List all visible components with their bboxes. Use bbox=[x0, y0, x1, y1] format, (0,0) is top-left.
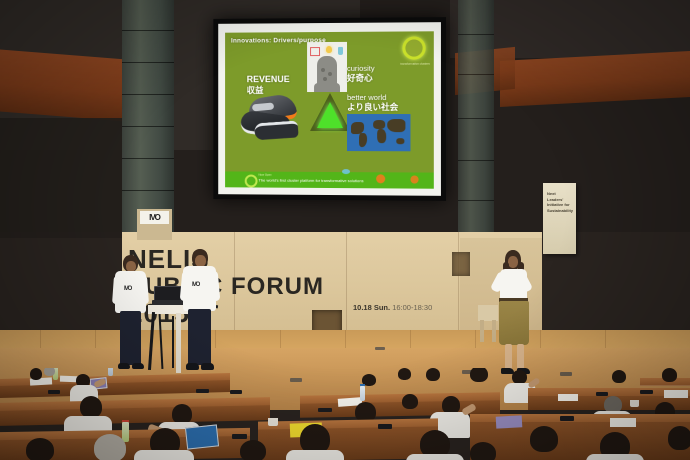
footer-small-text: Now Open bbox=[259, 173, 272, 177]
slide-footer-band: Now Open The world's first cluster platf… bbox=[225, 171, 434, 188]
audience-head-far-2 bbox=[44, 368, 55, 376]
transformative-clusters-ring-icon bbox=[402, 36, 425, 59]
revenue-jp: 収益 bbox=[247, 85, 290, 96]
audience-head-far-1 bbox=[30, 368, 42, 380]
column-right bbox=[458, 0, 494, 238]
audience-head-near-9 bbox=[240, 440, 266, 460]
audience-head-far-6 bbox=[512, 370, 527, 384]
better-world-jp: より良い社会 bbox=[347, 102, 398, 112]
audience-head-near-3 bbox=[94, 434, 126, 460]
shoe-lower bbox=[254, 120, 299, 140]
audience-head-far-8 bbox=[398, 368, 411, 380]
floor-marker-1 bbox=[375, 347, 385, 350]
green-triangle-graphic bbox=[310, 93, 350, 131]
lightbulb-icon bbox=[326, 46, 332, 53]
podium-placard: IVO bbox=[137, 209, 172, 240]
event-date: 10.18 Sun. bbox=[353, 303, 390, 312]
flask-icon bbox=[338, 47, 343, 55]
presenter-center-legs bbox=[188, 309, 211, 365]
audience-mic-7 bbox=[232, 434, 247, 439]
audience-laptop-screen bbox=[185, 424, 219, 449]
audience-mic-8 bbox=[378, 424, 392, 429]
world-map-image bbox=[347, 114, 410, 151]
audience-mic-3 bbox=[230, 390, 242, 394]
revenue-en: REVENUE bbox=[247, 74, 290, 85]
audience-mic-1 bbox=[48, 390, 60, 394]
speaker-right-leg-r bbox=[517, 344, 524, 370]
nelis-definition-placard: Next Leaders' Initiative for Sustainabil… bbox=[543, 183, 576, 254]
placard-text: Next Leaders' Initiative for Sustainabil… bbox=[547, 191, 573, 213]
audience-bottle-3 bbox=[360, 386, 365, 401]
presenter-left-legs bbox=[120, 311, 141, 365]
footer-tagline: The world's first cluster platform for t… bbox=[259, 178, 364, 184]
event-time: 16:00-18:30 bbox=[392, 303, 432, 312]
stage-chair bbox=[478, 305, 498, 321]
audience-cup-2 bbox=[268, 418, 278, 426]
speaker-right-face bbox=[508, 256, 518, 268]
audience-head-far-10 bbox=[662, 368, 677, 382]
cable-3 bbox=[172, 316, 174, 368]
audience-head-far-9 bbox=[612, 370, 626, 383]
audience-mic-9 bbox=[560, 416, 574, 421]
red-square-icon bbox=[310, 47, 320, 56]
placard-line4: Sustainability bbox=[547, 208, 573, 214]
slide-logo: transformative clusters bbox=[400, 36, 426, 65]
presentation-slide: Innovations: Drivers/purpose transformat… bbox=[225, 31, 434, 188]
audience-head-near-8 bbox=[668, 426, 690, 450]
presenter-center-shirt-logo: IVO bbox=[192, 282, 199, 288]
projection-screen: Innovations: Drivers/purpose transformat… bbox=[213, 17, 446, 201]
audience-paper-4 bbox=[664, 390, 688, 398]
ideas-head-image bbox=[307, 42, 347, 92]
audience-head-near-4 bbox=[26, 438, 54, 460]
presenter-left-shirt-logo: IVO bbox=[124, 286, 131, 292]
backdrop-niche-upper bbox=[452, 252, 470, 276]
placard-line3: Initiative for bbox=[547, 202, 573, 208]
footer-ring-icon bbox=[245, 175, 258, 188]
speaker-right-skirt bbox=[499, 301, 529, 345]
audience-body-near-5 bbox=[406, 454, 464, 460]
event-sign-date: 10.18 Sun. 16:00-18:30 bbox=[353, 303, 432, 312]
audience-head-near-6 bbox=[530, 426, 558, 452]
stage-chair-leg-l bbox=[480, 320, 484, 342]
audience-cup-1 bbox=[630, 400, 639, 407]
audience-purple-notebook bbox=[496, 415, 523, 428]
audience-head-mid-1 bbox=[80, 396, 102, 418]
audience-body-near-7 bbox=[586, 454, 644, 460]
audience-head-near-10 bbox=[470, 442, 496, 460]
podium-logo-card: IVO bbox=[140, 211, 169, 224]
auditorium-photo: Innovations: Drivers/purpose transformat… bbox=[0, 0, 690, 460]
curiosity-jp: 好奇心 bbox=[347, 73, 375, 83]
column-left bbox=[122, 0, 174, 232]
audience-bottle-2 bbox=[108, 368, 113, 376]
screen-surface: Innovations: Drivers/purpose transformat… bbox=[218, 22, 441, 196]
speaker-right-leg-l bbox=[505, 344, 512, 370]
running-shoes-image bbox=[239, 96, 300, 138]
audience-body-near-2 bbox=[286, 450, 344, 460]
stage-chair-leg-r bbox=[492, 320, 496, 342]
audience-head-mid-5 bbox=[402, 394, 418, 409]
audience-paper-5 bbox=[558, 394, 578, 401]
audience-mic-2 bbox=[196, 389, 209, 393]
curiosity-label: curiosity 好奇心 bbox=[347, 64, 375, 83]
slide-logo-caption: transformative clusters bbox=[400, 61, 426, 65]
audience-body-near-1 bbox=[134, 450, 194, 460]
audience-paper-6 bbox=[610, 418, 636, 427]
audience-head-far-5 bbox=[470, 368, 488, 382]
head-neck-silhouette bbox=[314, 83, 340, 92]
ceiling-beam-left bbox=[0, 49, 140, 122]
audience-head-mid-2 bbox=[172, 404, 192, 424]
audience-mic-4 bbox=[318, 408, 332, 412]
better-world-label: better world より良い社会 bbox=[347, 93, 398, 112]
presenter-table-leg bbox=[176, 313, 181, 373]
revenue-label: REVENUE 収益 bbox=[247, 74, 290, 96]
podium-logo-icon: IVO bbox=[149, 213, 160, 222]
audience-mic-5 bbox=[640, 390, 653, 394]
audience-mic-6 bbox=[596, 392, 608, 396]
audience-head-far-4 bbox=[426, 368, 440, 381]
event-sign-line1: NELIS bbox=[128, 246, 324, 273]
triangle-inner bbox=[317, 102, 343, 128]
audience-seating bbox=[0, 368, 690, 460]
